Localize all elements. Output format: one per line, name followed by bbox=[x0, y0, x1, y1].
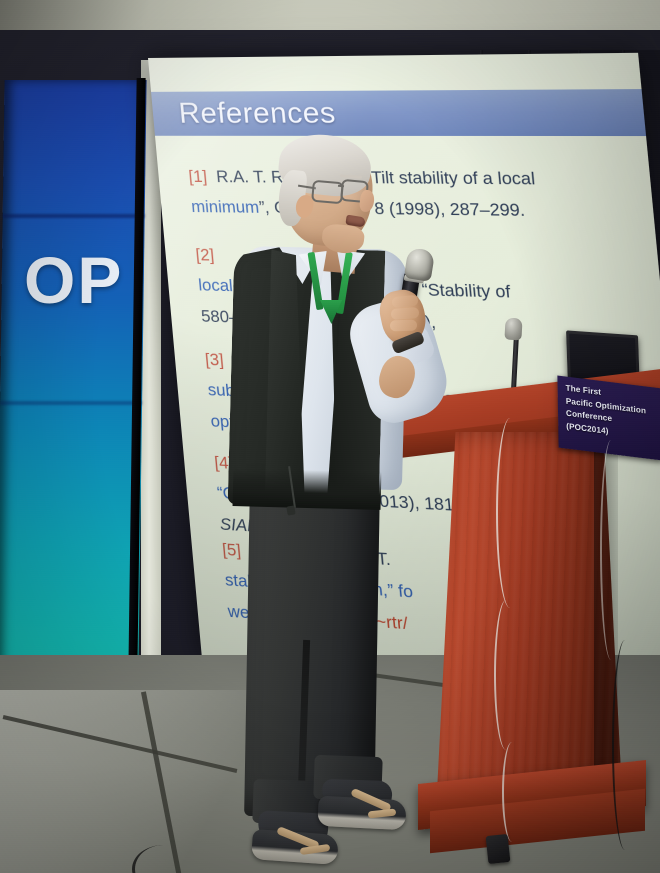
cable bbox=[494, 600, 518, 750]
cable bbox=[600, 440, 622, 660]
eyeglasses-bridge bbox=[338, 185, 344, 188]
nose bbox=[359, 189, 376, 213]
vest-hem bbox=[233, 468, 382, 510]
cable bbox=[496, 418, 524, 608]
power-adapter bbox=[486, 834, 511, 864]
vest-drawcord-tip bbox=[286, 505, 295, 515]
conference-photo: OP References [1] R.A. T. Rockafellar, “… bbox=[0, 0, 660, 873]
handheld-microphone-icon bbox=[404, 247, 436, 282]
speaker-figure bbox=[0, 0, 660, 873]
cable bbox=[612, 640, 638, 850]
eyeglasses-lens-left bbox=[311, 180, 344, 205]
finger bbox=[390, 320, 417, 332]
finger bbox=[391, 307, 420, 320]
cable bbox=[502, 742, 522, 842]
